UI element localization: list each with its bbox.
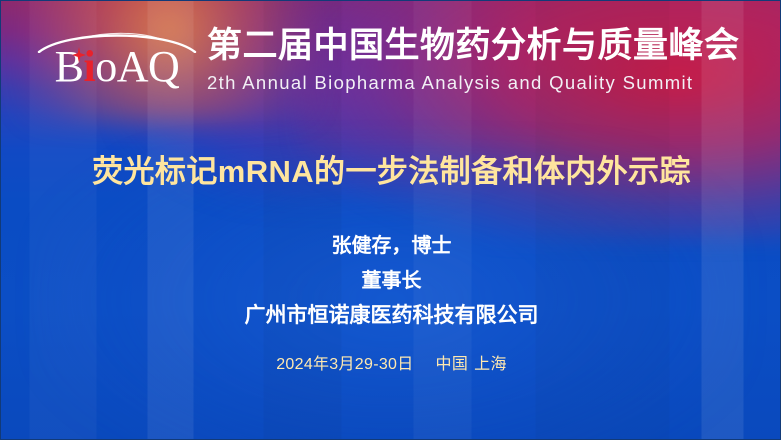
speaker-role: 董事长 [1, 267, 781, 295]
summit-title-cn: 第二届中国生物药分析与质量峰会 [207, 25, 767, 67]
header-title-block: 第二届中国生物药分析与质量峰会 2th Annual Biopharma Ana… [207, 25, 767, 95]
conference-title-slide: BioAQ 第二届中国生物药分析与质量峰会 2th Annual Biophar… [0, 0, 781, 440]
event-date: 2024年3月29-30日 [276, 356, 413, 373]
event-country: 中国 [436, 356, 469, 373]
summit-title-en: 2th Annual Biopharma Analysis and Qualit… [207, 71, 767, 95]
speaker-organization: 广州市恒诺康医药科技有限公司 [1, 302, 781, 330]
bioaq-logo-wordmark: BioAQ [37, 43, 197, 91]
presentation-title: 荧光标记mRNA的一步法制备和体内外示踪 [1, 150, 781, 194]
sparkle-icon [72, 47, 86, 63]
speaker-name: 张健存，博士 [1, 232, 781, 260]
event-city: 上海 [474, 356, 507, 373]
slide-header: BioAQ 第二届中国生物药分析与质量峰会 2th Annual Biophar… [1, 1, 781, 119]
event-date-location: 2024年3月29-30日中国上海 [1, 353, 781, 377]
logo-text-oaq: oAQ [95, 42, 179, 91]
bioaq-logo: BioAQ [37, 27, 197, 99]
